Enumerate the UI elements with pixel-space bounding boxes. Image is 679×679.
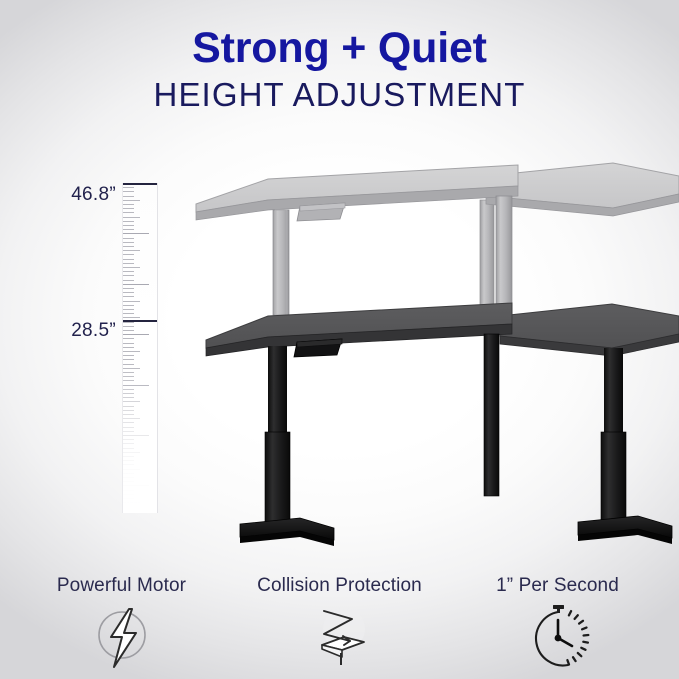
lowered-desk-assembly [206,303,679,546]
raised-desk-assembly [196,163,679,318]
collision-bounce-icon [302,603,378,673]
feature-label-collision-protection: Collision Protection [257,575,422,597]
raised-desk-leg-rear-right [480,200,494,312]
feature-label-speed: 1” Per Second [496,575,619,597]
feature-powerful-motor: Powerful Motor [14,575,229,673]
lightning-bolt-icon [84,603,160,673]
clock-icon [520,603,596,673]
lowered-desk-leg-rear-right [484,334,499,496]
raised-desk-leg-left [273,210,289,315]
feature-collision-protection: Collision Protection [232,575,447,673]
feature-label-powerful-motor: Powerful Motor [57,575,186,597]
feature-speed: 1” Per Second [450,575,665,673]
infographic-canvas: Strong + Quiet HEIGHT ADJUSTMENT 46.8” 2… [0,0,679,679]
control-panel-keypad-dark[interactable] [294,339,342,357]
raised-desk-leg-corner [496,196,512,318]
lowered-desk-leg-left [240,346,334,546]
control-panel-keypad-light[interactable] [297,203,345,221]
lowered-desk-leg-right [578,348,672,544]
feature-row: Powerful Motor Collision Protection 1” P… [0,575,679,673]
